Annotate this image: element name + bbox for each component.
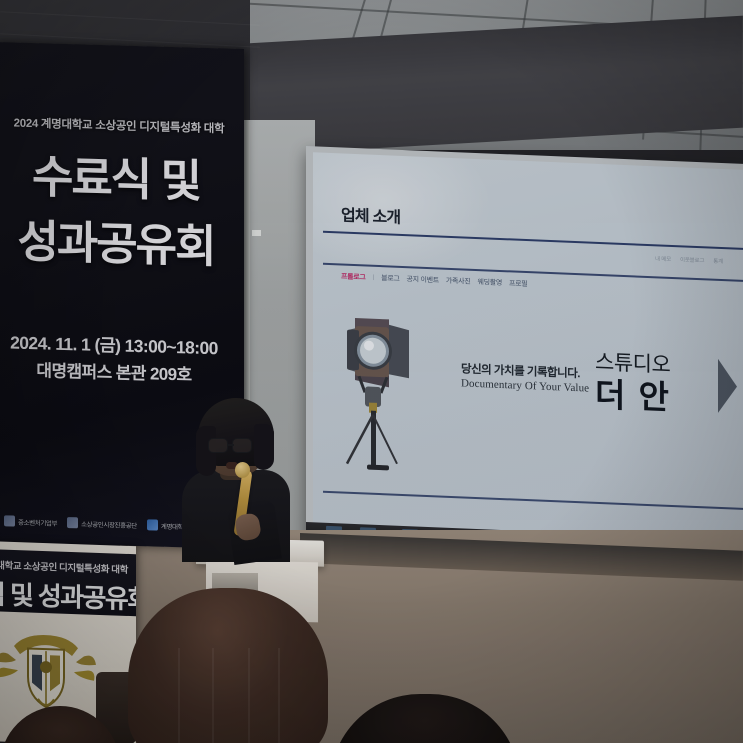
banner-place: 대명캠퍼스 본관 209호 xyxy=(0,355,234,387)
studio-light-image xyxy=(331,313,451,488)
logo-ministry: 중소벤처기업부 xyxy=(4,515,57,527)
nav-item-wedding-shoot[interactable]: 웨딩촬영 xyxy=(477,277,502,288)
banner-title-line2: 성과공유회 xyxy=(0,215,238,274)
projection-screen: 업체 소개 내 메모 이웃블로그 통계 프롤로그 | 블로그 공지 이벤트 가족… xyxy=(306,146,743,556)
screen-glare xyxy=(313,152,493,279)
next-arrow-icon[interactable] xyxy=(718,359,737,414)
faint-menu-item: 내 메모 xyxy=(655,254,671,263)
slide-brand-line2: 더 안 xyxy=(595,368,671,419)
nav-item-prologue[interactable]: 프롤로그 xyxy=(341,271,366,282)
presentation-photo-scene: 업체 소개 내 메모 이웃블로그 통계 프롤로그 | 블로그 공지 이벤트 가족… xyxy=(0,0,743,743)
wall-mark xyxy=(252,230,261,236)
banner2-header-block: 대학교 소상공인 디지털특성화 대학 식 및 성과공유회 xyxy=(0,549,136,617)
nav-item-profile[interactable]: 프로필 xyxy=(509,278,527,289)
slide-rule-bottom xyxy=(323,491,743,510)
glasses-lens-left-icon xyxy=(208,438,228,453)
faint-blog-menu: 내 메모 이웃블로그 통계 xyxy=(655,254,723,265)
slide-rule-top xyxy=(323,231,743,250)
semas-mark-icon xyxy=(67,517,78,528)
nav-separator: | xyxy=(373,275,375,281)
blog-nav-bar: 프롤로그 | 블로그 공지 이벤트 가족사진 웨딩촬영 프로필 xyxy=(341,271,527,289)
banner2-title: 식 및 성과공유회 xyxy=(0,574,132,616)
speaker-presenter xyxy=(178,392,308,557)
faint-menu-item: 통계 xyxy=(713,257,723,265)
faint-menu-item: 이웃블로그 xyxy=(680,255,704,264)
banner-subtitle: 2024 계명대학교 소상공인 디지털특성화 대학 xyxy=(0,114,238,137)
university-crest-icon xyxy=(0,619,98,715)
logo-semas: 소상공인시장진흥공단 xyxy=(67,517,137,530)
presentation-slide: 업체 소개 내 메모 이웃블로그 통계 프롤로그 | 블로그 공지 이벤트 가족… xyxy=(313,152,743,550)
logo-label: 소상공인시장진흥공단 xyxy=(81,518,137,530)
speaker-hair-right xyxy=(254,424,274,470)
slide-heading: 업체 소개 xyxy=(341,201,400,227)
glasses-bridge-icon xyxy=(228,444,234,446)
nav-item-family-photo[interactable]: 가족사진 xyxy=(446,276,471,287)
ministry-mark-icon xyxy=(4,515,15,526)
glasses-lens-right-icon xyxy=(232,438,252,453)
nav-item-blog[interactable]: 블로그 xyxy=(381,273,399,284)
keimyung-mark-icon xyxy=(147,519,158,530)
banner2-subtitle: 대학교 소상공인 디지털특성화 대학 xyxy=(0,557,132,576)
nav-item-notice-event[interactable]: 공지 이벤트 xyxy=(407,274,439,285)
logo-label: 중소벤처기업부 xyxy=(18,516,57,527)
audience-head-long-hair xyxy=(128,588,328,743)
banner-title-line1: 수료식 및 xyxy=(0,150,238,209)
